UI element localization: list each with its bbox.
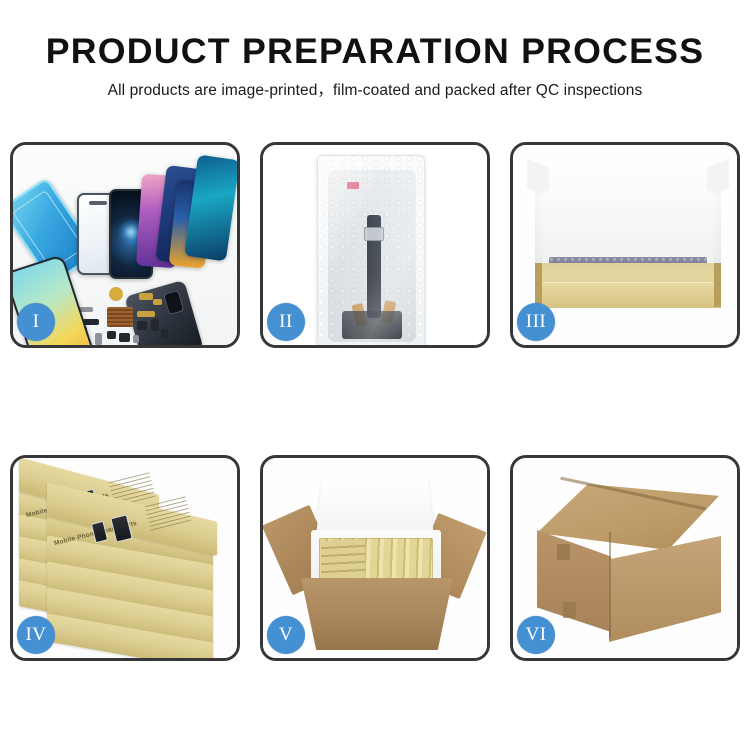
page-subtitle: All products are image-printed，film-coat… (0, 83, 750, 99)
pink-label-tab (347, 182, 359, 189)
step-panel-3[interactable]: III (510, 142, 740, 348)
step-badge-3: III (517, 303, 555, 341)
step-badge-6: VI (517, 616, 555, 654)
bubble-wrap-bag (317, 155, 425, 345)
carton-vertical-seam (609, 532, 611, 638)
page-header: PRODUCT PREPARATION PROCESS All products… (0, 0, 750, 99)
carton-right-face (609, 536, 721, 642)
yellow-boxes-side-stack (321, 539, 365, 579)
step-panel-4[interactable]: Mobile Phone Spare Parts Mobile Phone Sp… (10, 455, 240, 661)
display-base-shadow (342, 311, 402, 339)
step-badge-5: V (267, 616, 305, 654)
process-steps-grid: I II (10, 142, 740, 678)
step-panel-5[interactable]: V (260, 455, 490, 661)
carton-tab-upper (557, 544, 570, 560)
kraft-box-left-edge (535, 263, 542, 307)
kraft-box-front-panel (535, 282, 721, 308)
bag-inner-product (328, 170, 416, 342)
step-panel-6[interactable]: VI (510, 455, 740, 661)
step-badge-2: II (267, 303, 305, 341)
spare-parts-cluster (73, 285, 183, 345)
carton-body (301, 578, 453, 650)
step-panel-1[interactable]: I (10, 142, 240, 348)
step-badge-4: IV (17, 616, 55, 654)
step-panel-2[interactable]: II (260, 142, 490, 348)
white-foam-sheet (543, 191, 713, 263)
page-title: PRODUCT PREPARATION PROCESS (0, 34, 750, 69)
flex-connector (364, 227, 384, 241)
carton-tab-lower (563, 602, 576, 618)
step-badge-1: I (17, 303, 55, 341)
kraft-box-right-edge (714, 263, 721, 307)
